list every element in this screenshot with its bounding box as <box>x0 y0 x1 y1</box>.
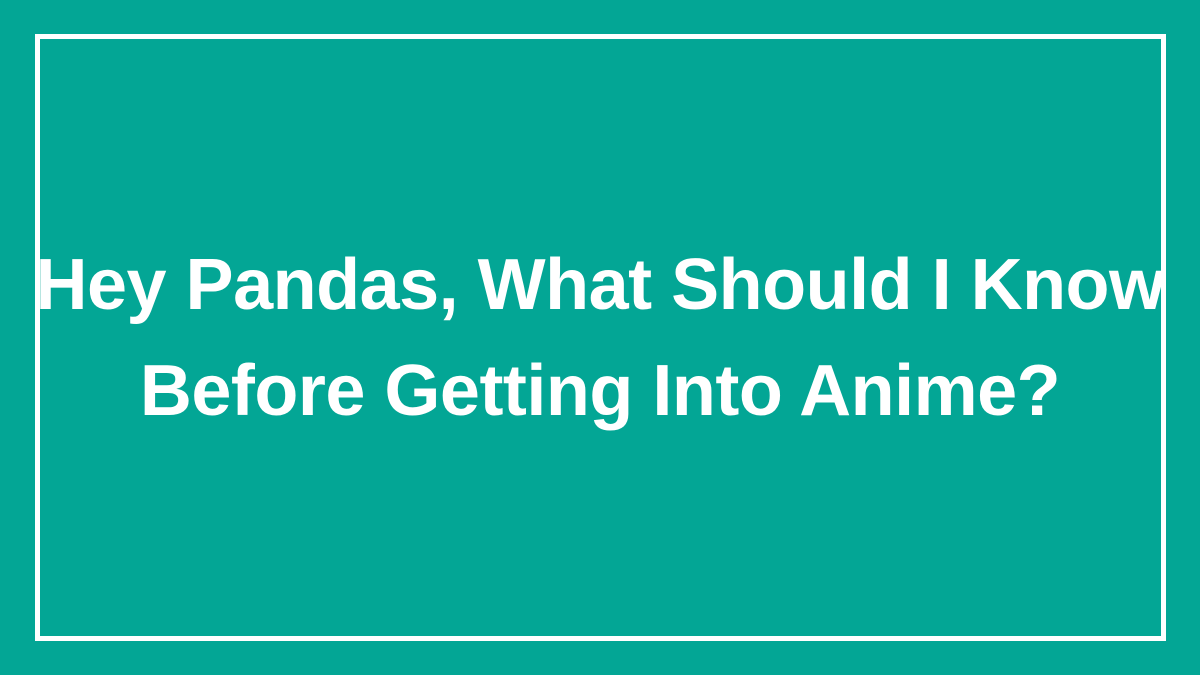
poster-canvas: Hey Pandas, What Should I Know Before Ge… <box>0 0 1200 675</box>
page-title: Hey Pandas, What Should I Know Before Ge… <box>35 232 1164 444</box>
headline-line-2: Before Getting Into Anime? <box>35 338 1164 444</box>
headline-line-1: Hey Pandas, What Should I Know <box>35 232 1164 338</box>
headline-block: Hey Pandas, What Should I Know Before Ge… <box>0 0 1200 675</box>
